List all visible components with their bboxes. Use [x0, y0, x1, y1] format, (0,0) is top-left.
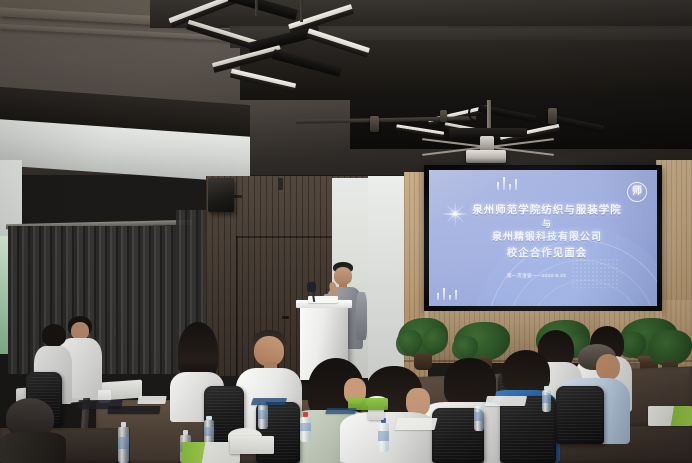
door-top — [236, 236, 336, 238]
slide-title-line-4: 校企合作见面会 — [447, 246, 647, 261]
wall-speaker — [208, 178, 234, 212]
projection-screen-frame: 师 泉州师范学院纺织与服装学院 与 泉州精锻科技有限公司 校企合作见面会 第一次… — [424, 165, 662, 311]
paper-document[interactable] — [395, 418, 438, 430]
water-bottle[interactable] — [474, 402, 484, 431]
ceiling-slab — [240, 40, 692, 100]
ceiling-slab — [350, 95, 692, 149]
projector-cable — [468, 104, 484, 122]
tissue-box[interactable] — [648, 406, 692, 426]
slide-title-line-3: 泉州精锻科技有限公司 — [447, 231, 647, 246]
pen[interactable] — [325, 408, 357, 414]
water-bottle[interactable] — [542, 386, 551, 412]
conference-room-photo: 师 泉州师范学院纺织与服装学院 与 泉州精锻科技有限公司 校企合作见面会 第一次… — [0, 0, 692, 463]
tissue-box[interactable] — [230, 436, 274, 454]
slide-dot-grid — [571, 258, 619, 288]
university-logo-icon: 师 — [627, 182, 647, 202]
paper-document[interactable] — [485, 396, 527, 406]
track-spotlight — [370, 116, 379, 132]
projection-screen[interactable]: 师 泉州师范学院纺织与服装学院 与 泉州精锻科技有限公司 校企合作见面会 第一次… — [429, 170, 657, 306]
track-spotlight — [548, 108, 557, 124]
projector — [466, 150, 506, 163]
track-spotlight — [440, 110, 447, 122]
notebook[interactable] — [107, 406, 160, 414]
slide-bars-bottom — [435, 286, 461, 300]
pen[interactable] — [251, 398, 287, 405]
microphone — [307, 282, 316, 292]
attendee — [340, 366, 438, 463]
slide-title-line-1: 泉州师范学院纺织与服装学院 — [447, 203, 647, 218]
chair — [556, 386, 604, 444]
projector-mount — [487, 100, 491, 130]
door-handle[interactable] — [282, 316, 289, 319]
paper-document[interactable] — [137, 396, 166, 404]
slide-subtitle: 第一次洽谈——2020.9.23 — [507, 273, 566, 279]
slide-bars-top — [495, 176, 521, 190]
water-bottle[interactable] — [118, 422, 129, 463]
wall-mount — [278, 178, 283, 190]
water-bottle[interactable] — [378, 418, 389, 452]
attendee — [0, 398, 66, 463]
water-bottle[interactable] — [300, 412, 311, 442]
slide-title-line-2: 与 — [447, 218, 647, 231]
